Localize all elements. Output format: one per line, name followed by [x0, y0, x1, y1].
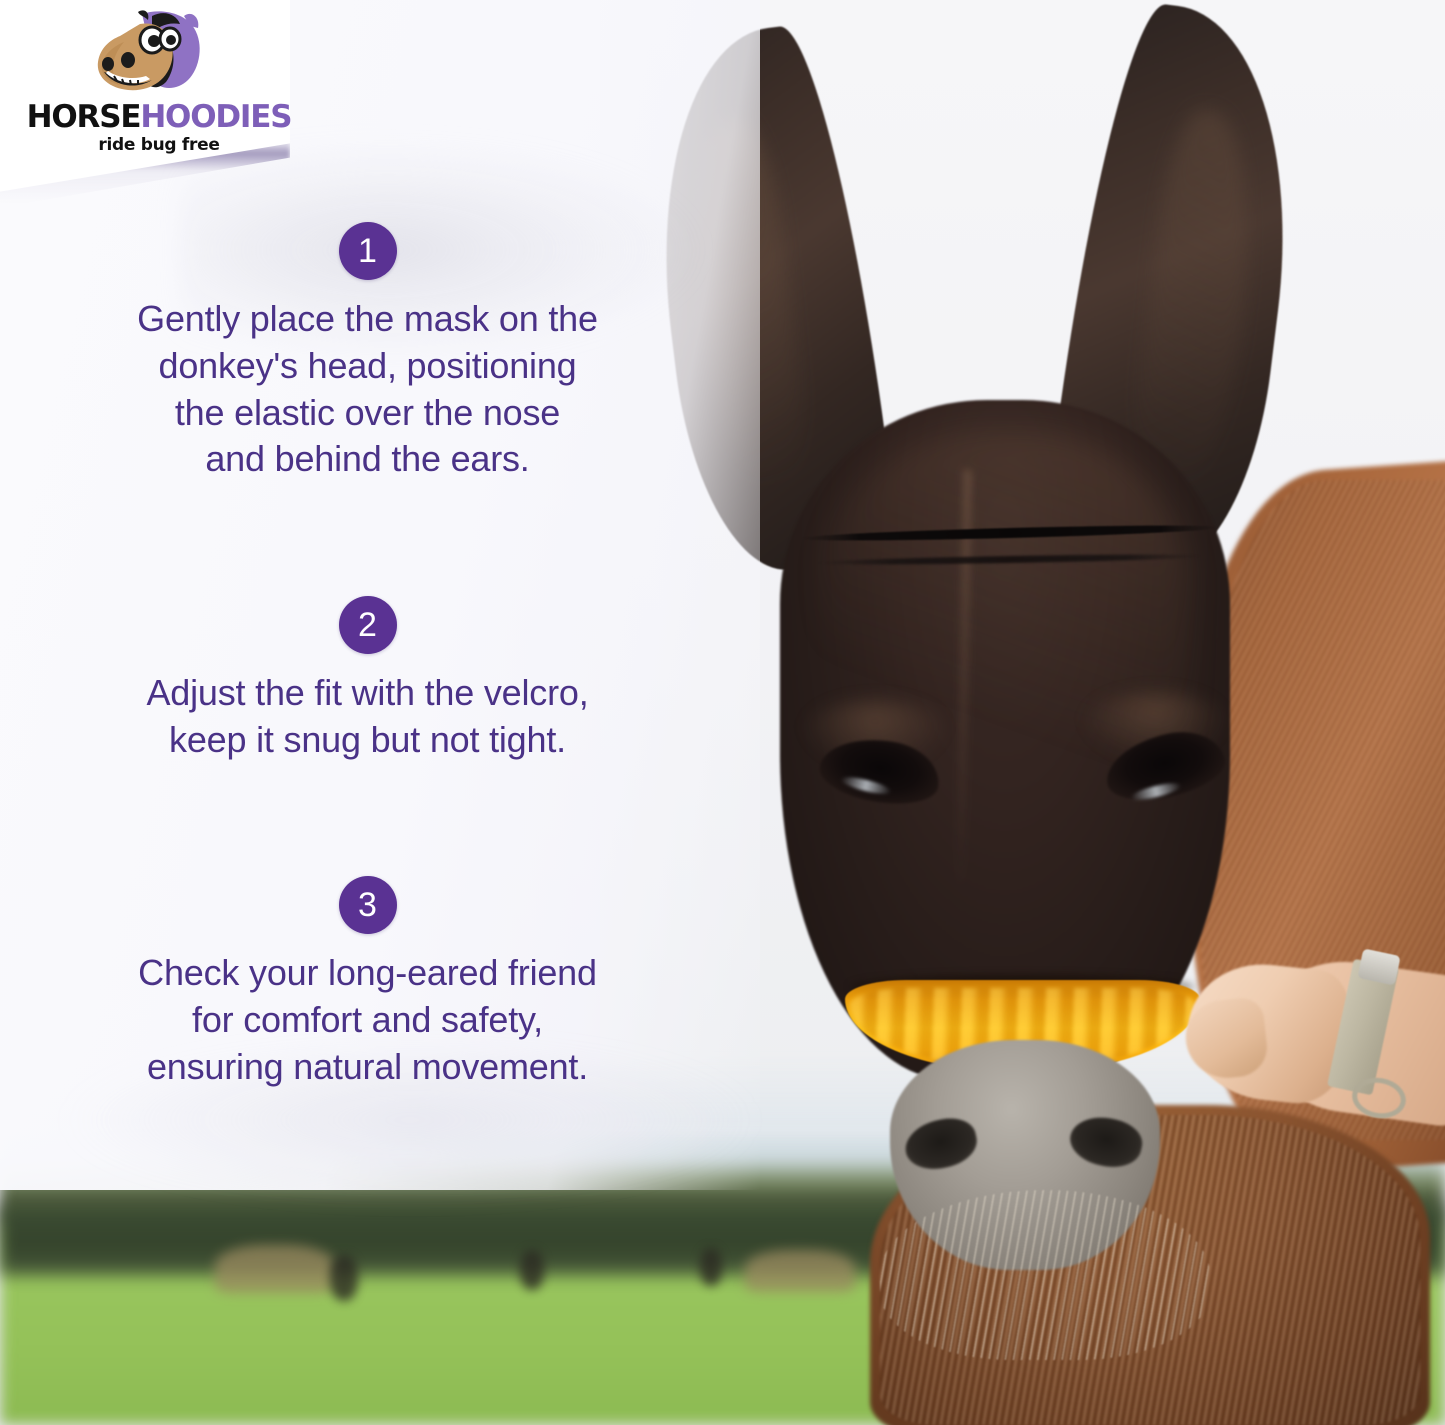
step-3-number-badge: 3 [339, 876, 397, 934]
hay-bale [215, 1245, 335, 1293]
hay-bale [745, 1250, 855, 1292]
grazing-animal [330, 1255, 358, 1301]
muzzle-whiskers [880, 1190, 1210, 1360]
step-1-number-badge: 1 [339, 222, 397, 280]
step-3-text: Check your long-eared friend for comfort… [0, 950, 735, 1090]
step-3: 3 Check your long-eared friend for comfo… [0, 876, 735, 1090]
step-2-text: Adjust the fit with the velcro, keep it … [0, 670, 735, 764]
step-2-number-badge: 2 [339, 596, 397, 654]
step-2: 2 Adjust the fit with the velcro, keep i… [0, 596, 735, 764]
instruction-infographic: HORSEHOODIES ride bug free 1 Gently plac… [0, 0, 1445, 1425]
step-1: 1 Gently place the mask on the donkey's … [0, 222, 735, 483]
head-sheen [820, 430, 1190, 950]
steps-list: 1 Gently place the mask on the donkey's … [0, 0, 735, 1190]
grazing-animal [520, 1250, 544, 1290]
step-1-text: Gently place the mask on the donkey's he… [0, 296, 735, 483]
grazing-animal [700, 1248, 722, 1286]
